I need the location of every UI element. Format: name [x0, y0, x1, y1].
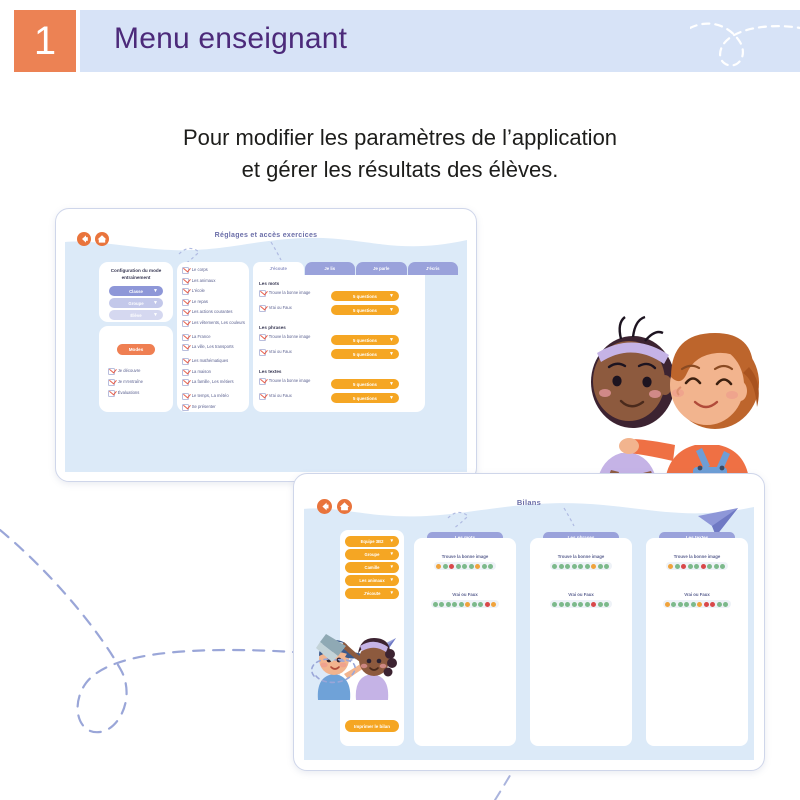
result-dot — [456, 564, 461, 569]
modes-card: Modes Je découvre Je m'entraîne Évaluati… — [99, 326, 173, 412]
theme-label: Les animaux — [192, 278, 216, 284]
theme-item[interactable]: La France — [182, 334, 246, 341]
illustration-girl-megaphone — [304, 630, 406, 700]
checkbox-checked-icon — [259, 393, 266, 400]
result-column-3: Trouve la bonne imageVrai ou Faux — [646, 538, 748, 746]
theme-label: Le repas — [192, 299, 208, 305]
modes-button[interactable]: Modes — [117, 344, 155, 355]
theme-label: La France — [192, 334, 211, 340]
result-dot — [675, 564, 680, 569]
theme-label: La maison — [192, 369, 211, 375]
chevron-down-icon: ▼ — [389, 578, 394, 583]
result-column-2: Trouve la bonne imageVrai ou Faux — [530, 538, 632, 746]
result-dot — [691, 602, 696, 607]
questions-dropdown[interactable]: 5 questions▼ — [331, 379, 399, 389]
result-label: Trouve la bonne image — [414, 554, 516, 559]
result-dot — [465, 602, 470, 607]
theme-item[interactable]: Le temps, La météo — [182, 393, 246, 400]
result-label: Vrai ou Faux — [530, 592, 632, 597]
theme-label: Le corps — [192, 267, 208, 273]
result-dot — [678, 602, 683, 607]
checkbox-checked-icon — [182, 267, 189, 274]
checkbox-checked-icon — [182, 379, 189, 386]
result-dot — [565, 602, 570, 607]
exercise-label: Vrai ou Faux — [269, 305, 292, 311]
theme-item[interactable]: La famille, Les métiers — [182, 379, 246, 386]
result-dot — [439, 602, 444, 607]
result-dot — [701, 564, 706, 569]
result-dot — [488, 564, 493, 569]
theme-item[interactable]: La ville, Les transports — [182, 344, 246, 351]
dropdown-classe[interactable]: Classe ▼ — [109, 286, 163, 296]
result-dot — [707, 564, 712, 569]
result-dot — [475, 564, 480, 569]
mode-option-label: Évaluations — [118, 390, 140, 396]
filter-dropdown-1[interactable]: Equipe 3B2▼ — [345, 536, 399, 547]
tablet2-dashed-accent — [444, 506, 604, 532]
questions-dropdown-label: 5 questions — [353, 294, 377, 299]
subtitle-line-1: Pour modifier les paramètres de l’applic… — [0, 122, 800, 154]
dropdown-groupe-label: Groupe — [128, 301, 143, 306]
page-title: Menu enseignant — [114, 22, 347, 56]
chevron-down-icon: ▼ — [389, 308, 394, 313]
tab-4[interactable]: J'écris — [408, 262, 459, 275]
result-dot — [565, 564, 570, 569]
exercise-row[interactable]: Trouve la bonne image — [259, 290, 317, 297]
result-dot — [604, 602, 609, 607]
checkbox-checked-icon — [182, 309, 189, 316]
config-title: Configuration du mode entraînement — [103, 268, 169, 282]
filter-dropdown-4[interactable]: Les animaux▼ — [345, 575, 399, 586]
theme-item[interactable]: Les mathématiques — [182, 358, 246, 365]
slide-page: 1 Menu enseignant Pour modifier les para… — [0, 0, 800, 800]
checkbox-checked-icon — [182, 278, 189, 285]
questions-dropdown-label: 5 questions — [353, 352, 377, 357]
checkbox-checked-icon — [182, 299, 189, 306]
questions-dropdown[interactable]: 5 questions▼ — [331, 393, 399, 403]
result-dot — [591, 564, 596, 569]
tablet-bilans-screen: Bilans Equipe 3B2▼Groupe▼Camille▼Les ani… — [293, 473, 765, 771]
theme-label: Se présenter — [192, 404, 216, 410]
exercises-card: Les motsTrouve la bonne image5 questions… — [253, 275, 425, 412]
result-dot — [578, 564, 583, 569]
checkbox-checked-icon — [108, 368, 115, 375]
result-dot — [559, 564, 564, 569]
chevron-down-icon: ▼ — [389, 552, 394, 557]
result-dot — [723, 602, 728, 607]
result-dot — [446, 602, 451, 607]
result-dot — [443, 564, 448, 569]
filter-label: Camille — [365, 565, 380, 570]
result-dot — [710, 602, 715, 607]
exercise-row[interactable]: Trouve la bonne image — [259, 334, 317, 341]
result-dots — [550, 600, 612, 608]
result-dot — [585, 564, 590, 569]
questions-dropdown-label: 5 questions — [353, 396, 377, 401]
result-label: Trouve la bonne image — [530, 554, 632, 559]
result-dot — [433, 602, 438, 607]
filter-label: J'écoute — [364, 591, 381, 596]
theme-label: L'école — [192, 288, 205, 294]
mode-option-decouvre[interactable]: Je découvre — [108, 368, 170, 375]
questions-dropdown[interactable]: 5 questions▼ — [331, 291, 399, 301]
exercise-section-title: Les phrases — [259, 325, 286, 330]
chevron-down-icon: ▼ — [153, 313, 158, 318]
result-column-1: Trouve la bonne imageVrai ou Faux — [414, 538, 516, 746]
result-dot — [469, 564, 474, 569]
exercise-label: Vrai ou Faux — [269, 349, 292, 355]
result-dot — [717, 602, 722, 607]
result-dot — [482, 564, 487, 569]
dashed-loop-bottom-left — [0, 530, 330, 732]
exercise-row[interactable]: Vrai ou Faux — [259, 305, 317, 312]
result-dot — [552, 564, 557, 569]
checkbox-checked-icon — [259, 334, 266, 341]
mode-option-evaluations[interactable]: Évaluations — [108, 390, 170, 397]
print-bilan-button[interactable]: Imprimer le bilan — [345, 720, 399, 732]
result-label: Vrai ou Faux — [414, 592, 516, 597]
exercise-label: Trouve la bonne image — [269, 290, 311, 296]
result-dot — [452, 602, 457, 607]
theme-label: La ville, Les transports — [192, 344, 234, 350]
tab-label: J'écris — [426, 266, 439, 271]
checkbox-checked-icon — [108, 390, 115, 397]
result-dots — [434, 562, 496, 570]
chevron-down-icon: ▼ — [389, 396, 394, 401]
tablet2-screen: Bilans Equipe 3B2▼Groupe▼Camille▼Les ani… — [304, 492, 754, 760]
result-dot — [491, 602, 496, 607]
checkbox-checked-icon — [182, 369, 189, 376]
result-dot — [462, 564, 467, 569]
result-dot — [704, 602, 709, 607]
questions-dropdown-label: 5 questions — [353, 382, 377, 387]
children-illustration — [525, 305, 800, 500]
subtitle-block: Pour modifier les paramètres de l’applic… — [0, 122, 800, 186]
chevron-down-icon: ▼ — [153, 301, 158, 306]
tab-3[interactable]: Je parle — [356, 262, 407, 275]
result-dot — [572, 602, 577, 607]
result-dot — [552, 602, 557, 607]
tab-label: Je lis — [324, 266, 335, 271]
result-dot — [572, 564, 577, 569]
filter-label: Les animaux — [359, 578, 384, 583]
theme-label: Les actions courantes — [192, 309, 233, 315]
checkbox-checked-icon — [182, 334, 189, 341]
mode-option-label: Je m'entraîne — [118, 379, 143, 385]
filter-label: Equipe 3B2 — [361, 539, 384, 544]
result-dot — [684, 602, 689, 607]
dropdown-eleve-label: Élève — [130, 313, 141, 318]
tab-label: J'écoute — [270, 266, 287, 271]
exercise-row[interactable]: Vrai ou Faux — [259, 349, 317, 356]
result-dot — [598, 564, 603, 569]
result-dot — [598, 602, 603, 607]
questions-dropdown[interactable]: 5 questions▼ — [331, 305, 399, 315]
checkbox-checked-icon — [182, 358, 189, 365]
result-dot — [591, 602, 596, 607]
tablet1-title: Réglages et accès exercices — [65, 232, 467, 239]
result-dot — [472, 602, 477, 607]
filter-dropdown-5[interactable]: J'écoute▼ — [345, 588, 399, 599]
result-dot — [559, 602, 564, 607]
result-dot — [671, 602, 676, 607]
dropdown-classe-label: Classe — [129, 289, 143, 294]
tab-1[interactable]: J'écoute — [253, 262, 304, 275]
dropdown-eleve[interactable]: Élève ▼ — [109, 310, 163, 320]
themes-card: Le corpsLes animauxL'écoleLe repasLes ac… — [177, 262, 249, 412]
filter-label: Groupe — [365, 552, 380, 557]
result-dot — [449, 564, 454, 569]
result-dots — [431, 600, 499, 608]
theme-item[interactable]: La maison — [182, 369, 246, 376]
result-dots — [666, 562, 728, 570]
result-dot — [694, 564, 699, 569]
result-dot — [697, 602, 702, 607]
result-dot — [681, 564, 686, 569]
checkbox-checked-icon — [259, 305, 266, 312]
chevron-down-icon: ▼ — [389, 338, 394, 343]
result-dots — [663, 600, 731, 608]
theme-item[interactable]: Les actions courantes — [182, 309, 246, 316]
checkbox-checked-icon — [108, 379, 115, 386]
exercise-label: Trouve la bonne image — [269, 378, 311, 384]
exercise-label: Trouve la bonne image — [269, 334, 311, 340]
slide-number-badge: 1 — [14, 10, 76, 72]
result-dot — [578, 602, 583, 607]
result-dot — [485, 602, 490, 607]
result-dot — [585, 602, 590, 607]
chevron-down-icon: ▼ — [389, 352, 394, 357]
checkbox-checked-icon — [182, 393, 189, 400]
header-dashed-loop — [690, 10, 800, 72]
theme-item[interactable]: Le repas — [182, 299, 246, 306]
tab-label: Je parle — [373, 266, 389, 271]
chevron-down-icon: ▼ — [389, 294, 394, 299]
result-dot — [604, 564, 609, 569]
mode-option-entraine[interactable]: Je m'entraîne — [108, 379, 170, 386]
header: 1 Menu enseignant — [0, 0, 800, 80]
result-dot — [459, 602, 464, 607]
exercise-row[interactable]: Trouve la bonne image — [259, 378, 317, 385]
result-dot — [665, 602, 670, 607]
theme-item[interactable]: L'école — [182, 288, 246, 295]
result-label: Vrai ou Faux — [646, 592, 748, 597]
result-dots — [550, 562, 612, 570]
checkbox-checked-icon — [259, 290, 266, 297]
checkbox-checked-icon — [182, 288, 189, 295]
theme-label: Le temps, La météo — [192, 393, 229, 399]
theme-item[interactable]: Les animaux — [182, 278, 246, 285]
filter-dropdown-2[interactable]: Groupe▼ — [345, 549, 399, 560]
tablet2-title: Bilans — [304, 498, 754, 507]
chevron-down-icon: ▼ — [389, 382, 394, 387]
questions-dropdown[interactable]: 5 questions▼ — [331, 335, 399, 345]
result-dot — [436, 564, 441, 569]
subtitle-line-2: et gérer les résultats des élèves. — [0, 154, 800, 186]
dropdown-groupe[interactable]: Groupe ▼ — [109, 298, 163, 308]
result-dot — [720, 564, 725, 569]
checkbox-checked-icon — [182, 344, 189, 351]
checkbox-checked-icon — [259, 349, 266, 356]
tablet-settings-screen: Réglages et accès exercices Configuratio… — [55, 208, 477, 482]
filter-dropdown-3[interactable]: Camille▼ — [345, 562, 399, 573]
theme-label: Les vêtements, Les couleurs — [192, 320, 245, 326]
result-dot — [478, 602, 483, 607]
result-label: Trouve la bonne image — [646, 554, 748, 559]
theme-item[interactable]: Le corps — [182, 267, 246, 274]
chevron-down-icon: ▼ — [153, 289, 158, 294]
questions-dropdown[interactable]: 5 questions▼ — [331, 349, 399, 359]
exercise-section-title: Les textes — [259, 369, 281, 374]
tab-2[interactable]: Je lis — [305, 262, 356, 275]
result-dot — [714, 564, 719, 569]
chevron-down-icon: ▼ — [389, 591, 394, 596]
mode-option-label: Je découvre — [118, 368, 141, 374]
config-card: Configuration du mode entraînement Class… — [99, 262, 173, 322]
exercise-section-title: Les mots — [259, 281, 279, 286]
checkbox-checked-icon — [182, 320, 189, 327]
questions-dropdown-label: 5 questions — [353, 308, 377, 313]
theme-label: La famille, Les métiers — [192, 379, 234, 385]
skill-tabs: J'écouteJe lisJe parleJ'écris — [253, 262, 459, 275]
theme-label: Les mathématiques — [192, 358, 229, 364]
theme-item[interactable]: Les vêtements, Les couleurs — [182, 320, 246, 327]
result-dot — [668, 564, 673, 569]
tablet1-screen: Réglages et accès exercices Configuratio… — [65, 226, 467, 472]
checkbox-checked-icon — [259, 378, 266, 385]
chevron-down-icon: ▼ — [389, 539, 394, 544]
questions-dropdown-label: 5 questions — [353, 338, 377, 343]
chevron-down-icon: ▼ — [389, 565, 394, 570]
result-dot — [688, 564, 693, 569]
exercise-label: Vrai ou Faux — [269, 393, 292, 399]
theme-item[interactable]: Se présenter — [182, 404, 246, 411]
exercise-row[interactable]: Vrai ou Faux — [259, 393, 317, 400]
checkbox-checked-icon — [182, 404, 189, 411]
